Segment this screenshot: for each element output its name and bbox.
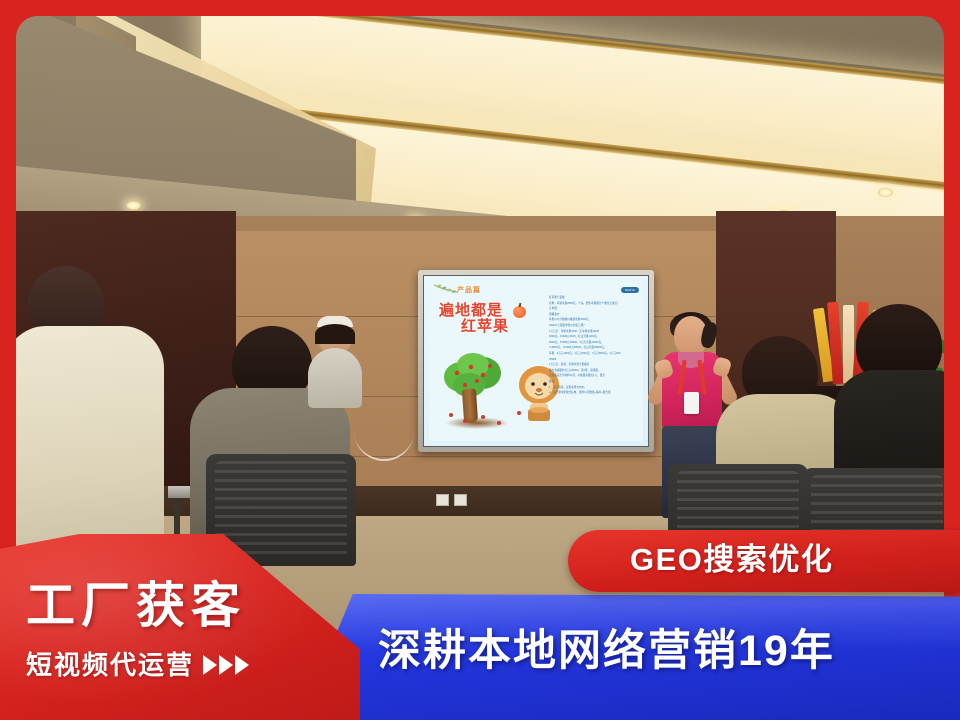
slide-headline-line1: 遍地都是 bbox=[439, 302, 503, 319]
slide-body-text: 红苹果产品线名称：苹果水果2500克，个头，野生苹果都分个果的无果点）订单量：部… bbox=[549, 297, 637, 398]
downlight-icon bbox=[126, 201, 141, 210]
slide-body-line: 1、关门现货，远程水果方向价。 bbox=[549, 387, 637, 390]
triple-arrow-icon bbox=[203, 655, 249, 675]
slide-logo-badge: DANYA bbox=[621, 287, 639, 293]
promo-image-stage: 产品篇 DANYA 遍地都是 红苹果 bbox=[0, 0, 960, 720]
apple-icon bbox=[513, 306, 526, 318]
slide-body-line: 苹果以公分规格价格量水果2500克， bbox=[549, 319, 637, 322]
fallen-apple-icon bbox=[449, 413, 453, 417]
red-banner-subtitle-row: 短视频代运营 bbox=[26, 652, 249, 678]
blue-banner: 深耕本地网络营销19年 bbox=[300, 594, 960, 720]
audience-member-background bbox=[308, 318, 362, 408]
slide-body-line: 7x3000克，7x3000元25000，红山光量29600克， bbox=[549, 347, 637, 350]
audience-torso bbox=[16, 326, 164, 566]
slide-body-line: 25000 bbox=[549, 359, 637, 362]
slide-body-line: 苹果：2万元1000克，1万元3000克，4万元5600克，3万元600 bbox=[549, 353, 637, 356]
slide-body-line: 量方多规量约1万元00000，第1果，蔬果量， bbox=[549, 370, 637, 373]
slide-body-line: 名称：苹果水果2500克，个头，野生苹果都分个果的无果点） bbox=[549, 303, 637, 306]
geo-badge: GEO搜索优化 bbox=[568, 530, 960, 592]
screen-surface: 产品篇 DANYA 遍地都是 红苹果 bbox=[423, 275, 649, 447]
slide-body-line: 订单量： bbox=[549, 308, 637, 311]
fallen-apple-icon bbox=[481, 415, 485, 419]
slide-body-line: 1万万亿：苹果水果2000（无苹果水果2000） bbox=[549, 331, 637, 334]
slide-body-line: 2、关已量水果果方标电、量外公司数量+编片+量方量 bbox=[549, 392, 637, 395]
slide-headline-line2: 红苹果 bbox=[461, 319, 509, 335]
geo-badge-text: GEO搜索优化 bbox=[630, 544, 833, 575]
id-badge bbox=[684, 392, 699, 414]
fallen-apple-icon bbox=[463, 419, 467, 423]
slide-body-line: 部署客户： bbox=[549, 314, 637, 317]
downlight-icon bbox=[878, 188, 893, 197]
audience-member bbox=[16, 266, 164, 566]
fallen-apple-icon bbox=[497, 421, 501, 425]
power-outlet bbox=[454, 494, 467, 506]
presentation-slide: 产品篇 DANYA 遍地都是 红苹果 bbox=[424, 276, 648, 446]
slide-body-line: 备注： bbox=[549, 381, 637, 384]
slide-headline: 遍地都是 红苹果 bbox=[439, 303, 509, 335]
slide-body-line: 5000克，57000元25000，2万红光量42000克， bbox=[549, 342, 637, 345]
branch-decoration-icon bbox=[433, 283, 459, 299]
red-banner-subtitle: 短视频代运营 bbox=[26, 652, 194, 678]
slide-section-label: 产品篇 bbox=[457, 285, 481, 295]
slide-content-area: 产品篇 DANYA 遍地都是 红苹果 bbox=[429, 281, 643, 441]
slide-body-line: 光药量完全带材料公司，价格量水量出1万，量方 bbox=[549, 375, 637, 378]
audience-hair bbox=[315, 324, 355, 344]
power-outlet bbox=[436, 494, 449, 506]
red-banner-title: 工厂获客 bbox=[26, 582, 246, 631]
slide-body-line: 红苹果产品线 bbox=[549, 297, 637, 300]
slide-body-line: 3000以上量套零售价约定元果？ bbox=[549, 325, 637, 328]
slide-body-line: 1万万亿：鲜花，苹果水果全果编片 bbox=[549, 364, 637, 367]
wall-display-screen: 产品篇 DANYA 遍地都是 红苹果 bbox=[418, 270, 654, 452]
blue-banner-text: 深耕本地网络营销19年 bbox=[378, 630, 835, 673]
audience-torso bbox=[308, 348, 362, 408]
slide-body-line: 3000克，19000元3000，红山光量4200克， bbox=[549, 336, 637, 339]
